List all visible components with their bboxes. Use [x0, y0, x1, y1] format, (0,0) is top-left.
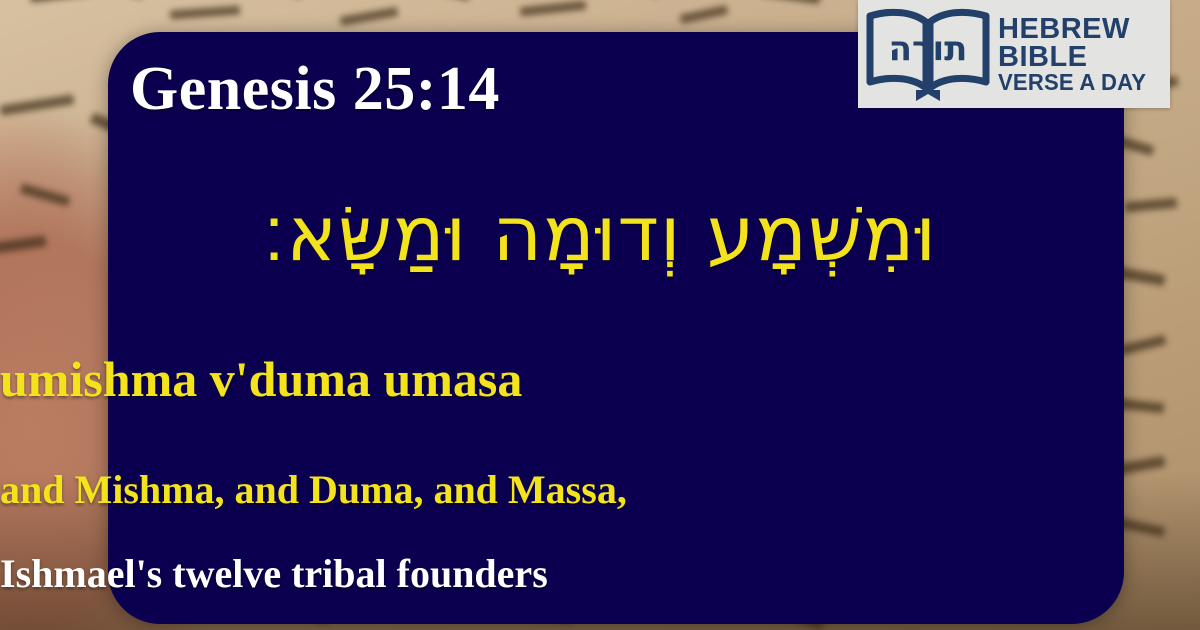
transliteration-text: umishma v'duma umasa — [0, 352, 1200, 407]
brand-line-1: HEBREW — [998, 15, 1152, 43]
brand-logo[interactable]: תורה HEBREW BIBLE VERSE A DAY — [858, 0, 1170, 108]
brand-line-2: BIBLE — [998, 43, 1152, 71]
verse-caption-text: Ishmael's twelve tribal founders — [0, 552, 1200, 596]
verse-image-canvas: Genesis 25:14 וּמִשְׁמָע וְדוּמָה וּמַשָ… — [0, 0, 1200, 630]
verse-reference: Genesis 25:14 — [130, 58, 500, 120]
english-translation-text: and Mishma, and Duma, and Massa, — [0, 468, 1200, 512]
hebrew-verse-text: וּמִשְׁמָע וְדוּמָה וּמַשָּׂא׃ — [0, 186, 1200, 281]
brand-wordmark: HEBREW BIBLE VERSE A DAY — [998, 15, 1152, 94]
open-book-icon: תורה — [864, 6, 992, 102]
brand-line-3: VERSE A DAY — [998, 71, 1146, 93]
torah-hebrew-word: תורה — [889, 29, 968, 69]
